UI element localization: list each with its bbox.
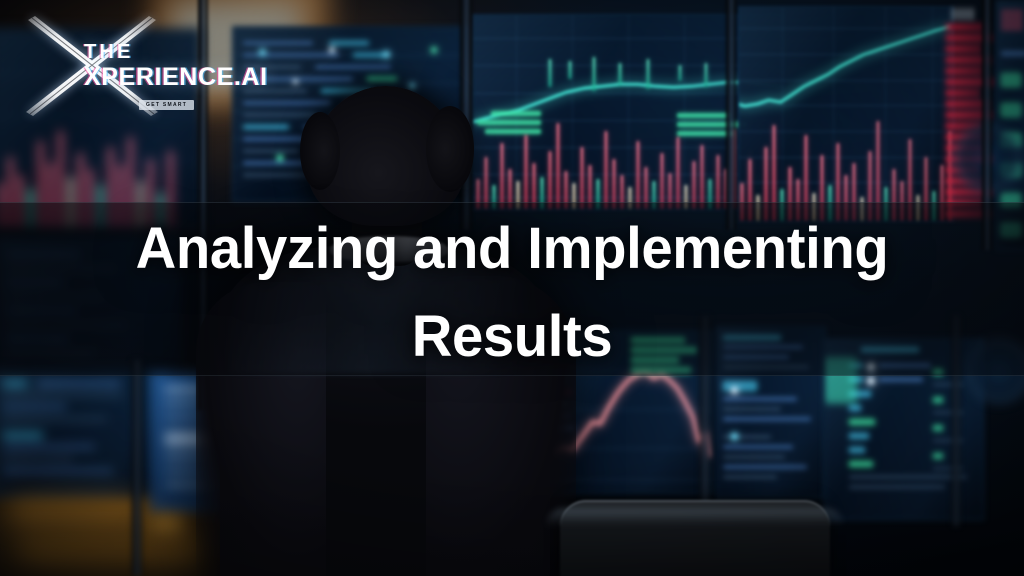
brand-wordmark: THE XPERIENCE.AI [84,42,234,90]
brand-tagline: GET SMART [139,100,194,110]
desk-warm-glow-1 [6,500,146,520]
monitor-mullion-3 [726,0,736,230]
page-title: Analyzing and Implementing Results [15,205,1008,381]
brand-line-1: THE [84,42,234,62]
brand-line-2: XPERIENCE.AI [84,65,234,90]
slide-canvas: Analyzing and Implementing Results [0,0,1024,576]
ladder-header-icon [952,8,974,20]
monitor-bottom-left-terminal [0,370,170,498]
monitor-mullion-7 [132,360,142,576]
page-title-line-2: Results [15,293,1008,381]
desk-warm-glow-3 [150,516,184,530]
office-chair [560,500,830,576]
monitor-right-chart [738,6,954,222]
page-title-line-1: Analyzing and Implementing [15,205,1008,293]
band-top-edge [0,202,1024,203]
brand-logo[interactable]: THE XPERIENCE.AI GET SMART [24,14,230,118]
desk-warm-glow-2 [16,540,206,556]
